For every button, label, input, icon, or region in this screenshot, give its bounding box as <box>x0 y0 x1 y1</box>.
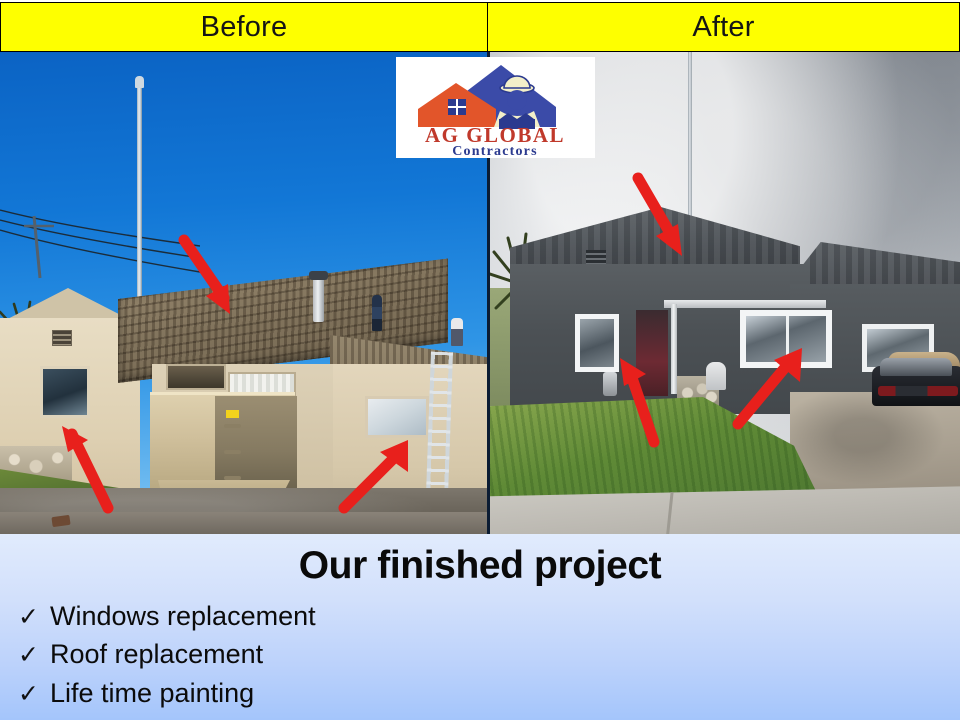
check-icon: ✓ <box>18 600 38 636</box>
list-item-label: Roof replacement <box>50 635 263 673</box>
before-right-window <box>365 396 429 438</box>
power-lines-icon <box>0 202 200 292</box>
roof-worker-1 <box>372 295 382 331</box>
list-item: ✓ Roof replacement <box>12 635 960 674</box>
after-porch-eave <box>664 300 826 308</box>
dumpster-handle-3 <box>224 476 241 480</box>
after-arrow-new-paint <box>612 348 672 448</box>
company-logo[interactable]: AG GLOBAL Contractors <box>396 57 595 158</box>
description-panel: Our finished project ✓ Windows replaceme… <box>0 534 960 720</box>
check-icon: ✓ <box>18 638 38 674</box>
car-rear-window <box>880 358 952 376</box>
after-gable-vent <box>586 250 606 264</box>
dumpster-sticker <box>226 410 239 418</box>
before-chimney-pipe <box>313 278 324 322</box>
slide-canvas: Before After AG GLOBAL <box>0 0 960 720</box>
list-item: ✓ Life time painting <box>12 674 960 713</box>
before-awning <box>166 364 226 390</box>
parked-car <box>872 352 960 420</box>
header-label-after: After <box>692 13 754 42</box>
feature-list: ✓ Windows replacement ✓ Roof replacement… <box>0 597 960 713</box>
svg-text:Contractors: Contractors <box>452 144 538 158</box>
before-arrow-roof <box>178 234 250 324</box>
after-patio-chair <box>706 362 726 390</box>
after-arrow-new-window <box>730 340 812 432</box>
before-arrow-right-window <box>336 434 418 516</box>
panel-title: Our finished project <box>0 534 960 587</box>
car-tail-lights <box>878 386 958 396</box>
logo-graphic-icon: AG GLOBAL Contractors <box>396 57 595 158</box>
before-left-window <box>40 366 90 418</box>
roof-worker-2 <box>451 318 463 346</box>
list-item-label: Life time painting <box>50 674 254 712</box>
before-gable-vent <box>52 330 72 346</box>
dumpster-handle-2 <box>224 450 241 454</box>
dumpster-handle-1 <box>224 424 241 428</box>
check-icon: ✓ <box>18 677 38 713</box>
list-item: ✓ Windows replacement <box>12 597 960 636</box>
header-cell-after[interactable]: After <box>488 2 960 52</box>
after-arrow-new-roof <box>630 172 698 268</box>
header-cell-before[interactable]: Before <box>0 2 488 52</box>
before-arrow-left-wall <box>58 418 120 514</box>
list-item-label: Windows replacement <box>50 597 316 635</box>
comparison-header: Before After <box>0 2 960 52</box>
header-label-before: Before <box>201 13 288 42</box>
